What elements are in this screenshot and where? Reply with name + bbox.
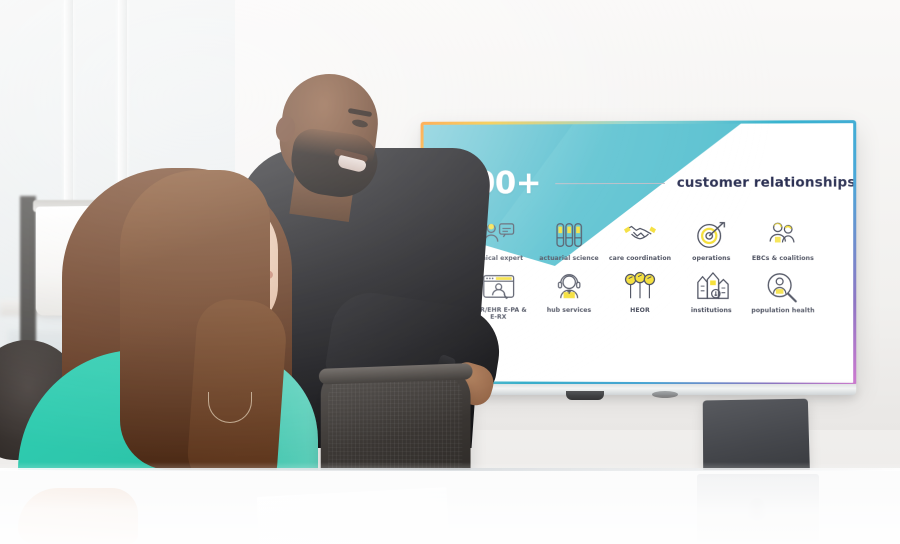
capability-item: actuarial science	[534, 219, 605, 263]
capability-label: operations	[692, 255, 730, 263]
capability-item: HEOR	[604, 271, 675, 322]
capability-item: population health	[747, 271, 819, 323]
table-edge	[0, 468, 900, 471]
actuarial-science-icon	[550, 219, 588, 251]
tv-stand-foot	[652, 391, 678, 398]
headline-rule	[555, 182, 665, 183]
capability-label: institutions	[691, 307, 732, 315]
hub-services-icon	[550, 271, 588, 303]
capability-label: hub services	[547, 306, 591, 314]
emr-ehr-icon	[479, 271, 517, 303]
capability-label: population health	[751, 307, 814, 315]
laptop-logo	[748, 498, 766, 524]
screenshot-root: 500+ customer relationships	[0, 0, 900, 544]
population-health-icon	[764, 271, 802, 303]
heor-icon	[621, 271, 659, 303]
capability-icon-grid: clinical expert actuari	[463, 219, 819, 322]
foreground-hand	[18, 488, 138, 544]
capability-item: institutions	[676, 271, 747, 322]
capability-label: actuarial science	[539, 255, 599, 263]
capability-label: care coordination	[609, 255, 671, 263]
tv-stand-foot	[566, 391, 604, 400]
operations-icon	[692, 219, 730, 251]
capability-label: HEOR	[630, 307, 650, 315]
capability-item: EBCs & coalitions	[747, 219, 819, 263]
capability-item: hub services	[534, 271, 605, 322]
ebcs-coalitions-icon	[764, 219, 802, 251]
care-coordination-icon	[621, 219, 659, 251]
institutions-icon	[692, 271, 730, 303]
slide-headline: 500+ customer relationships	[453, 165, 833, 200]
capability-label: EBCs & coalitions	[752, 255, 814, 263]
capability-item: care coordination	[604, 219, 675, 263]
stat-caption: customer relationships	[677, 174, 854, 190]
papers-on-table	[257, 487, 449, 544]
capability-item: operations	[676, 219, 747, 263]
